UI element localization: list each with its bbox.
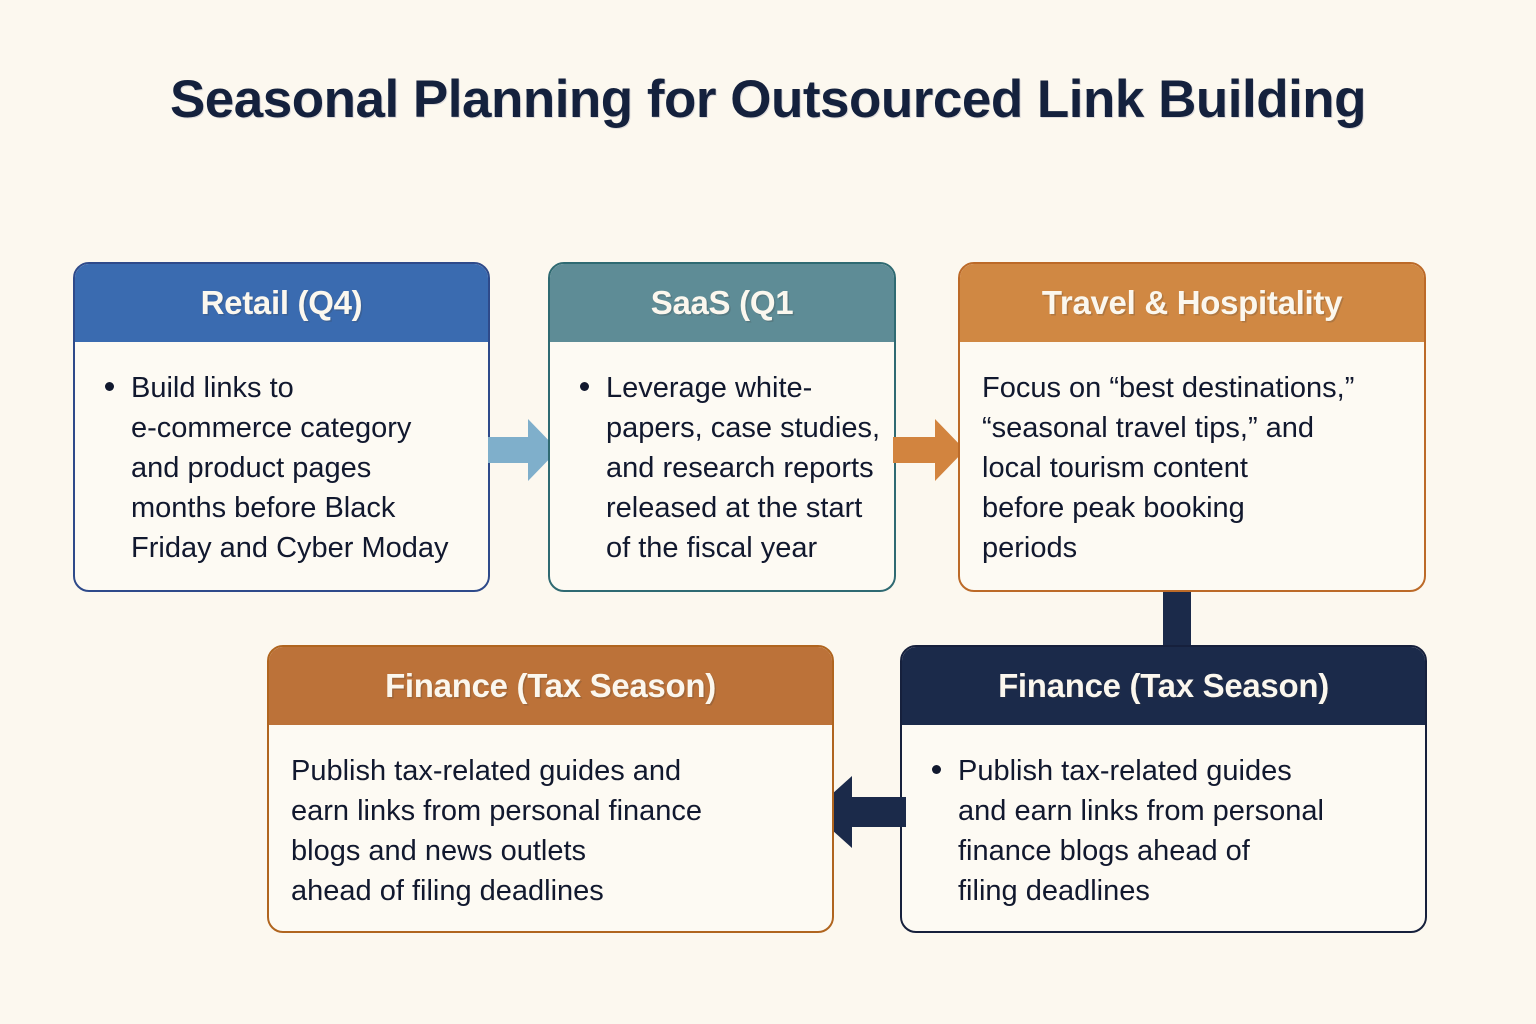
card-finance-left-header: Finance (Tax Season) bbox=[269, 647, 832, 725]
card-travel-body: Focus on “best destinations,” “seasonal … bbox=[960, 342, 1424, 582]
arrow-saas-to-travel bbox=[893, 417, 965, 488]
card-retail[interactable]: Retail (Q4) Build links to e-commerce ca… bbox=[73, 262, 490, 592]
card-finance-right-body: Publish tax-related guides and earn link… bbox=[902, 725, 1425, 925]
card-retail-body: Build links to e-commerce category and p… bbox=[75, 342, 488, 582]
card-travel-hospitality[interactable]: Travel & Hospitality Focus on “best dest… bbox=[958, 262, 1426, 592]
card-finance-right-header: Finance (Tax Season) bbox=[902, 647, 1425, 725]
card-saas-body: Leverage white- papers, case studies, an… bbox=[550, 342, 896, 582]
card-finance-left[interactable]: Finance (Tax Season) Publish tax-related… bbox=[267, 645, 834, 933]
card-travel-body-text: Focus on “best destinations,” “seasonal … bbox=[982, 368, 1406, 568]
card-retail-body-text: Build links to e-commerce category and p… bbox=[131, 368, 470, 568]
card-retail-header: Retail (Q4) bbox=[75, 264, 488, 342]
card-finance-left-body: Publish tax-related guides and earn link… bbox=[269, 725, 832, 925]
connector-travel-to-finance-right bbox=[1163, 592, 1191, 650]
card-saas[interactable]: SaaS (Q1 Leverage white- papers, case st… bbox=[548, 262, 896, 592]
card-finance-right-body-text: Publish tax-related guides and earn link… bbox=[958, 751, 1407, 911]
card-travel-header: Travel & Hospitality bbox=[960, 264, 1424, 342]
card-finance-right[interactable]: Finance (Tax Season) Publish tax-related… bbox=[900, 645, 1427, 933]
card-saas-header: SaaS (Q1 bbox=[550, 264, 894, 342]
card-saas-body-text: Leverage white- papers, case studies, an… bbox=[606, 368, 896, 568]
diagram-canvas: Seasonal Planning for Outsourced Link Bu… bbox=[0, 0, 1536, 1024]
page-title: Seasonal Planning for Outsourced Link Bu… bbox=[168, 66, 1368, 134]
card-finance-left-body-text: Publish tax-related guides and earn link… bbox=[291, 751, 814, 911]
arrow-right-icon bbox=[893, 417, 965, 483]
